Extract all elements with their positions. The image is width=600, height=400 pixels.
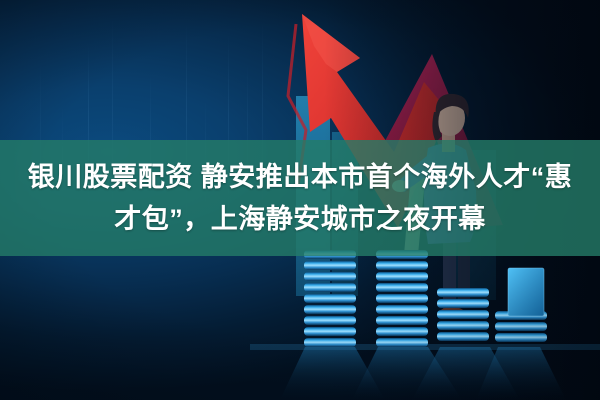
finance-news-banner: 银川股票配资 静安推出本市首个海外人才“惠才包”，上海静安城市之夜开幕 [0, 0, 600, 400]
headline-band: 银川股票配资 静安推出本市首个海外人才“惠才包”，上海静安城市之夜开幕 [0, 140, 600, 256]
page-title: 银川股票配资 静安推出本市首个海外人才“惠才包”，上海静安城市之夜开幕 [18, 156, 582, 240]
